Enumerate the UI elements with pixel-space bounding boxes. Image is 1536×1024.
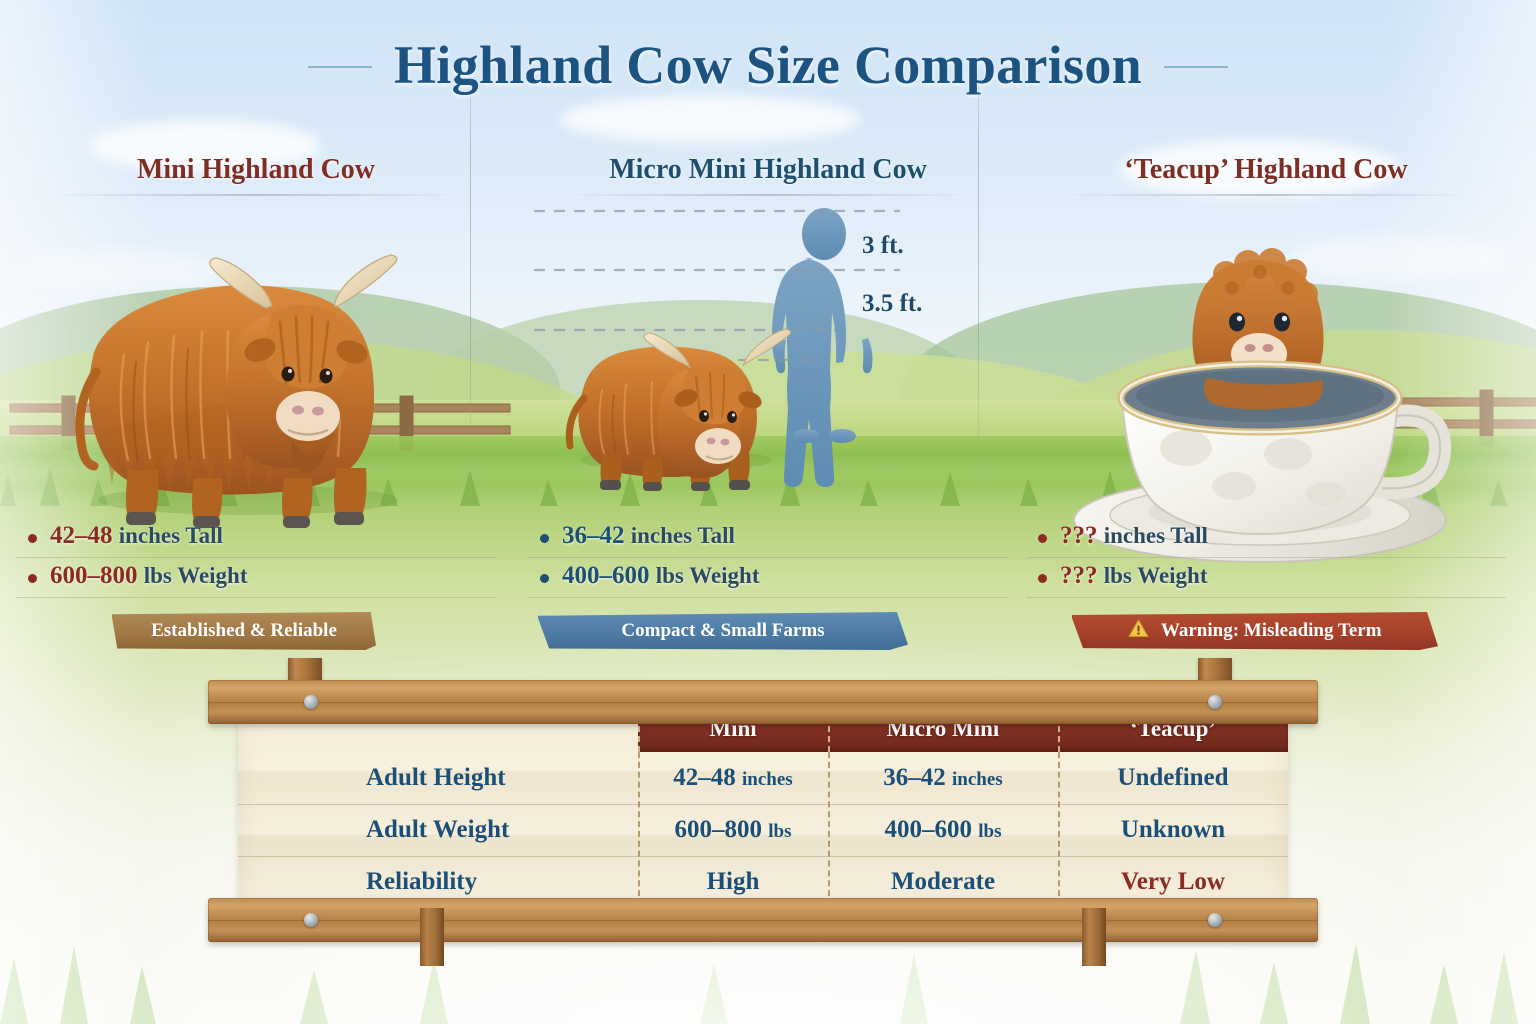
column-heading-teacup: ‘Teacup’ Highland Cow xyxy=(1026,150,1506,186)
screw xyxy=(1208,695,1222,709)
micro-mini-cow xyxy=(569,329,790,491)
badge-label: Compact & Small Farms xyxy=(621,620,824,641)
cell-value: Undefined xyxy=(1117,764,1228,791)
row-label: Adult Weight xyxy=(366,804,509,856)
fact-value: 600–800 xyxy=(50,562,138,589)
column-mini: Mini Highland Cow xyxy=(16,150,496,670)
facts-teacup: ??? inches Tall ??? lbs Weight xyxy=(1026,518,1506,598)
infographic-canvas: Highland Cow Size Comparison Mini Highla… xyxy=(0,0,1536,1024)
cell-value: 600–800 xyxy=(675,816,763,843)
badge-teacup: Warning: Misleading Term xyxy=(1072,612,1438,650)
sign-rail-top xyxy=(208,680,1318,724)
heading-underline xyxy=(562,194,975,196)
bullet-dot xyxy=(28,574,37,583)
fact-value: 42–48 xyxy=(50,522,113,549)
cloud xyxy=(560,96,860,142)
page-title: Highland Cow Size Comparison xyxy=(394,34,1142,96)
fact-unit: inches Tall xyxy=(119,523,223,548)
cell-value: Moderate xyxy=(891,868,995,895)
sign-leg-left xyxy=(420,908,444,966)
screw xyxy=(304,695,318,709)
human-silhouette xyxy=(772,208,873,487)
table-cell: 400–600 lbs xyxy=(828,804,1058,856)
fact-unit: lbs Weight xyxy=(656,563,760,588)
row-label: Adult Height xyxy=(366,752,506,804)
fact-height: ??? inches Tall xyxy=(1026,518,1506,558)
table-row: Adult Height 42–48 inches 36–42 inches U… xyxy=(238,752,1288,804)
comparison-columns: Mini Highland Cow xyxy=(0,150,1536,670)
cell-suffix: lbs xyxy=(768,821,791,842)
table-cell: 600–800 lbs xyxy=(638,804,828,856)
bullet-dot xyxy=(540,574,549,583)
cell-suffix: lbs xyxy=(978,821,1001,842)
cell-value: 42–48 xyxy=(673,764,736,791)
fact-value: ??? xyxy=(1060,522,1098,549)
table-cell: Unknown xyxy=(1058,804,1288,856)
fact-value: ??? xyxy=(1060,562,1098,589)
cell-value: Very Low xyxy=(1121,868,1225,895)
heading-underline xyxy=(1060,194,1473,196)
column-micro-mini: Micro Mini Highland Cow xyxy=(528,150,1008,670)
bullet-dot xyxy=(1038,574,1047,583)
screw xyxy=(1208,913,1222,927)
table-cell: 36–42 inches xyxy=(828,752,1058,804)
table-row: Adult Weight 600–800 lbs 400–600 lbs Unk… xyxy=(238,804,1288,856)
heading-underline xyxy=(50,194,463,196)
fact-value: 36–42 xyxy=(562,522,625,549)
fact-weight: ??? lbs Weight xyxy=(1026,558,1506,598)
badge-label: Established & Reliable xyxy=(151,620,337,641)
sign-board: Mini Micro Mini ‘Teacup’ Adult Height 42… xyxy=(238,706,1288,906)
fact-weight: 400–600 lbs Weight xyxy=(528,558,1008,598)
cell-suffix: inches xyxy=(952,769,1003,790)
column-heading-mini: Mini Highland Cow xyxy=(16,150,496,186)
cell-value: 36–42 xyxy=(883,764,946,791)
table-cell: 42–48 inches xyxy=(638,752,828,804)
cell-value: 400–600 xyxy=(885,816,973,843)
column-heading-micro-mini: Micro Mini Highland Cow xyxy=(528,150,1008,186)
fact-unit: inches Tall xyxy=(631,523,735,548)
sign-rail-bottom xyxy=(208,898,1318,942)
fact-unit: lbs Weight xyxy=(1104,563,1208,588)
fact-unit: lbs Weight xyxy=(144,563,248,588)
bullet-dot xyxy=(1038,534,1047,543)
table-cell: Undefined xyxy=(1058,752,1288,804)
bullet-dot xyxy=(540,534,549,543)
badge-micro-mini: Compact & Small Farms xyxy=(538,612,908,650)
facts-mini: 42–48 inches Tall 600–800 lbs Weight xyxy=(16,518,496,598)
comparison-table-sign: Mini Micro Mini ‘Teacup’ Adult Height 42… xyxy=(208,666,1318,966)
badge-mini: Established & Reliable xyxy=(112,612,376,650)
cell-value: Unknown xyxy=(1121,816,1225,843)
screw xyxy=(304,913,318,927)
badge-label: Warning: Misleading Term xyxy=(1161,620,1382,641)
fact-weight: 600–800 lbs Weight xyxy=(16,558,496,598)
fact-value: 400–600 xyxy=(562,562,650,589)
fact-unit: inches Tall xyxy=(1104,523,1208,548)
column-teacup: ‘Teacup’ Highland Cow xyxy=(1026,150,1506,670)
sign-leg-right xyxy=(1082,908,1106,966)
warning-triangle-icon xyxy=(1128,614,1149,652)
fact-height: 36–42 inches Tall xyxy=(528,518,1008,558)
fact-height: 42–48 inches Tall xyxy=(16,518,496,558)
scale-label-3-5ft: 3.5 ft. xyxy=(862,290,922,318)
scale-label-3ft: 3 ft. xyxy=(862,232,904,260)
bullet-dot xyxy=(28,534,37,543)
cell-value: High xyxy=(707,868,760,895)
facts-micro-mini: 36–42 inches Tall 400–600 lbs Weight xyxy=(528,518,1008,598)
cell-suffix: inches xyxy=(742,769,793,790)
title-container: Highland Cow Size Comparison xyxy=(0,34,1536,96)
